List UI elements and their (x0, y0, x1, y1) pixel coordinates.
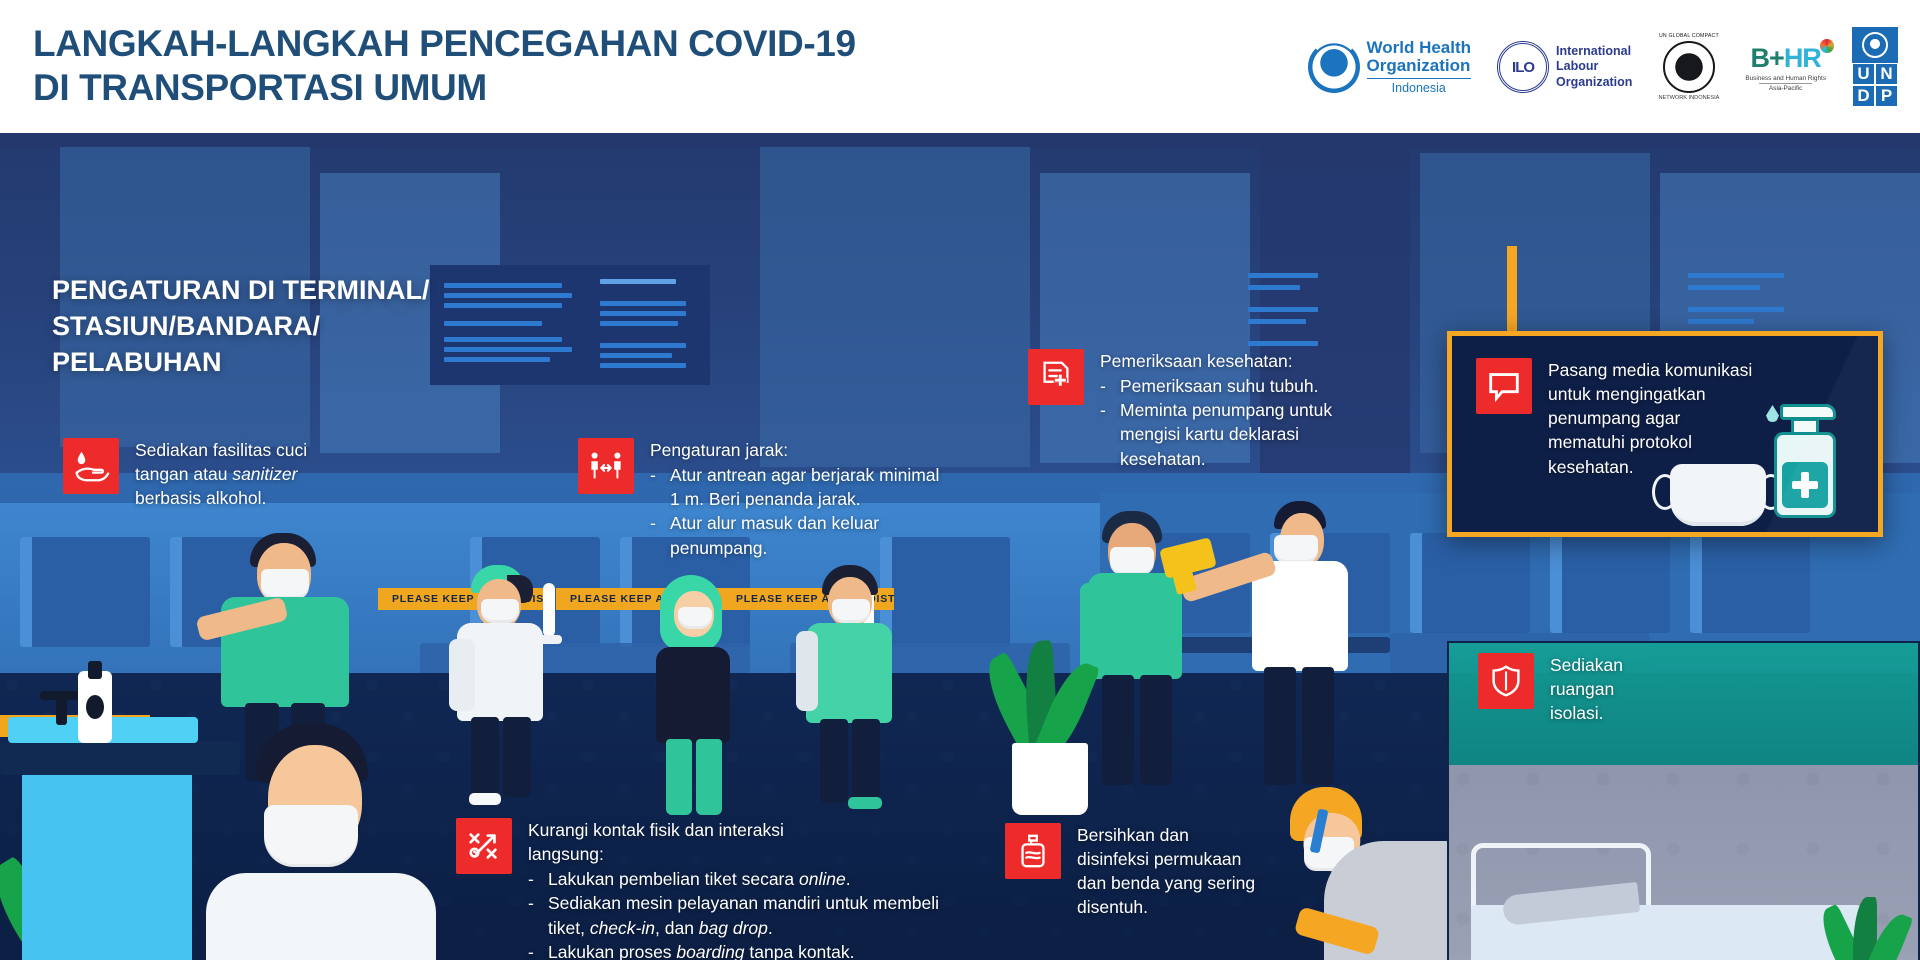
isolation-line-1: Sediakan (1550, 653, 1623, 677)
comm-line-1: Pasang media komunikasi (1548, 358, 1786, 382)
list-item: - Lakukan proses boarding tanpa kontak. (528, 940, 976, 960)
card-reduce-contact: Kurangi kontak fisik dan interaksi langs… (456, 818, 976, 960)
disinfect-line-4: disentuh. (1077, 895, 1255, 919)
ilo-line3: Organization (1556, 75, 1632, 90)
reduce-b3-post: . (768, 918, 773, 938)
infographic-page: LANGKAH-LANGKAH PENCEGAHAN COVID-19 DI T… (0, 0, 1920, 960)
who-country: Indonesia (1367, 78, 1472, 95)
bhr-sub1: Business and Human Rights (1745, 75, 1826, 82)
speech-bubble-icon (1476, 358, 1532, 414)
screening-bullet-1: Pemeriksaan suhu tubuh. (1120, 374, 1318, 398)
card-distancing: Pengaturan jarak: -Atur antrean agar ber… (578, 438, 948, 560)
un-global-compact-logo: UN GLOBAL COMPACT NETWORK INDONESIA (1658, 33, 1719, 101)
disinfect-line-1: Bersihkan dan (1077, 823, 1255, 847)
comm-line-2: untuk mengingatkan (1548, 382, 1786, 406)
callout-connector (1507, 246, 1517, 336)
face-mask-illustration (1670, 464, 1766, 526)
screening-bullet-2: Meminta penumpang untuk mengisi kartu de… (1120, 398, 1358, 470)
sdg-wheel-icon (1820, 39, 1834, 53)
page-title-line2: DI TRANSPORTASI UMUM (33, 66, 1033, 110)
gc-bottom-text: NETWORK INDONESIA (1658, 95, 1719, 101)
illustration-scene: STATION (0, 113, 1920, 960)
card-disinfect-text: Bersihkan dan disinfeksi permukaan dan b… (1077, 823, 1255, 920)
card-handwashing: Sediakan fasilitas cuci tangan atau sani… (63, 438, 403, 510)
isolation-line-2: ruangan (1550, 677, 1623, 701)
undp-logo: U N D P (1852, 27, 1898, 107)
reduce-b3-it: bag drop (699, 918, 768, 938)
card-reduce-contact-text: Kurangi kontak fisik dan interaksi langs… (528, 818, 976, 960)
distancing-bullet-2: Atur alur masuk dan keluar penumpang. (670, 511, 948, 559)
distancing-lead: Pengaturan jarak: (650, 438, 948, 462)
undp-n: N (1875, 63, 1898, 85)
undp-p: P (1875, 85, 1898, 107)
who-line1: World Health (1367, 39, 1472, 57)
undp-u: U (1852, 63, 1875, 85)
bhr-hr: HR (1784, 43, 1821, 73)
shield-icon (1478, 653, 1534, 709)
logo-strip: World Health Organization Indonesia ILO … (1308, 26, 1899, 108)
card-disinfect: Bersihkan dan disinfeksi permukaan dan b… (1005, 823, 1335, 920)
section-title-line1: PENGATURAN DI TERMINAL/ (52, 273, 430, 309)
card-handwashing-text: Sediakan fasilitas cuci tangan atau sani… (135, 438, 307, 510)
distancing-bullet-1: Atur antrean agar berjarak minimal 1 m. … (670, 463, 948, 511)
gc-top-text: UN GLOBAL COMPACT (1659, 33, 1719, 39)
bhr-logo: B+HR Business and Human Rights Asia-Paci… (1745, 43, 1826, 92)
handwash-line1: Sediakan fasilitas cuci (135, 440, 307, 460)
globe-wreath-icon (1663, 41, 1715, 93)
list-item: -Pemeriksaan suhu tubuh. (1100, 374, 1358, 398)
reduce-lead-2: langsung: (528, 842, 976, 866)
page-title-line1: LANGKAH-LANGKAH PENCEGAHAN COVID-19 (33, 23, 856, 64)
window (1550, 533, 1670, 633)
header-bar: LANGKAH-LANGKAH PENCEGAHAN COVID-19 DI T… (0, 0, 1920, 133)
list-item: -Atur alur masuk dan keluar penumpang. (650, 511, 948, 559)
reduce-b2-it: check-in (590, 918, 655, 938)
bhr-plus: + (1769, 43, 1784, 73)
card-communication-text: Pasang media komunikasi untuk mengingatk… (1548, 358, 1786, 479)
handwash-italic: sanitizer (232, 464, 297, 484)
reduce-b2-post: , dan (655, 918, 699, 938)
page-title: LANGKAH-LANGKAH PENCEGAHAN COVID-19 DI T… (33, 22, 1033, 109)
ilo-line2: Labour (1556, 59, 1632, 74)
ilo-line1: International (1556, 44, 1632, 59)
person-screening-staff (1228, 501, 1368, 789)
card-health-screening: Pemeriksaan kesehatan: -Pemeriksaan suhu… (1028, 349, 1358, 471)
section-title-line2: STASIUN/BANDARA/ (52, 309, 430, 345)
window (1410, 533, 1530, 633)
card-communication-media: Pasang media komunikasi untuk mengingatk… (1447, 331, 1883, 537)
bhr-b: B (1751, 43, 1770, 73)
person-hijab (642, 575, 752, 787)
spray-bottle-icon (1005, 823, 1061, 879)
reduce-b4-post: tanpa kontak. (745, 942, 855, 960)
disinfect-line-3: dan benda yang sering (1077, 871, 1255, 895)
sanitizer-bottle-illustration (1760, 398, 1852, 518)
disinfect-line-2: disinfeksi permukaan (1077, 847, 1255, 871)
list-item: -Meminta penumpang untuk mengisi kartu d… (1100, 398, 1358, 470)
reduce-b4-it: boarding (676, 942, 744, 960)
screening-lead: Pemeriksaan kesehatan: (1100, 349, 1358, 373)
person-with-laptop (158, 723, 488, 960)
who-line2: Organization (1367, 57, 1472, 75)
who-emblem-icon (1308, 41, 1360, 93)
ilo-emblem-icon: ILO (1497, 41, 1549, 93)
list-item: - Lakukan pembelian tiket secara online. (528, 867, 976, 891)
window (1690, 533, 1810, 633)
undp-d: D (1852, 85, 1875, 107)
reduce-contact-icon (456, 818, 512, 874)
handwash-line3: berbasis alkohol. (135, 488, 266, 508)
list-item: -Atur antrean agar berjarak minimal 1 m.… (650, 463, 948, 511)
isolation-line-3: isolasi. (1550, 701, 1623, 725)
section-title-line3: PELABUHAN (52, 345, 430, 381)
handwash-line2a: tangan atau (135, 464, 232, 484)
physical-distancing-icon (578, 438, 634, 494)
card-distancing-text: Pengaturan jarak: -Atur antrean agar ber… (650, 438, 948, 560)
who-logo: World Health Organization Indonesia (1308, 39, 1472, 94)
list-item: - Sediakan mesin pelayanan mandiri untuk… (528, 891, 976, 939)
person-green-sweater (792, 565, 912, 787)
comm-line-3: penumpang agar (1548, 406, 1786, 430)
bhr-sub2: Asia-Pacific (1759, 83, 1812, 92)
ilo-mark: ILO (1512, 59, 1534, 76)
departure-board (590, 265, 710, 385)
un-emblem-icon (1852, 27, 1898, 63)
departure-board (430, 265, 590, 385)
card-isolation-text: Sediakan ruangan isolasi. (1550, 653, 1623, 725)
reduce-b1-pre: Lakukan pembelian tiket secara (548, 869, 799, 889)
bg-pane (760, 147, 1030, 467)
card-isolation-room: Sediakan ruangan isolasi. (1478, 653, 1778, 725)
reduce-b4-pre: Lakukan proses (548, 942, 676, 960)
section-title: PENGATURAN DI TERMINAL/ STASIUN/BANDARA/… (52, 273, 430, 381)
health-form-icon (1028, 349, 1084, 405)
card-health-screening-text: Pemeriksaan kesehatan: -Pemeriksaan suhu… (1100, 349, 1358, 471)
comm-line-4: mematuhi protokol (1548, 430, 1786, 454)
reduce-b1-post: . (846, 869, 851, 889)
hand-wash-icon (63, 438, 119, 494)
ilo-logo: ILO International Labour Organization (1497, 41, 1632, 93)
reduce-b1-it: online (799, 869, 846, 889)
reduce-lead-1: Kurangi kontak fisik dan interaksi (528, 818, 976, 842)
